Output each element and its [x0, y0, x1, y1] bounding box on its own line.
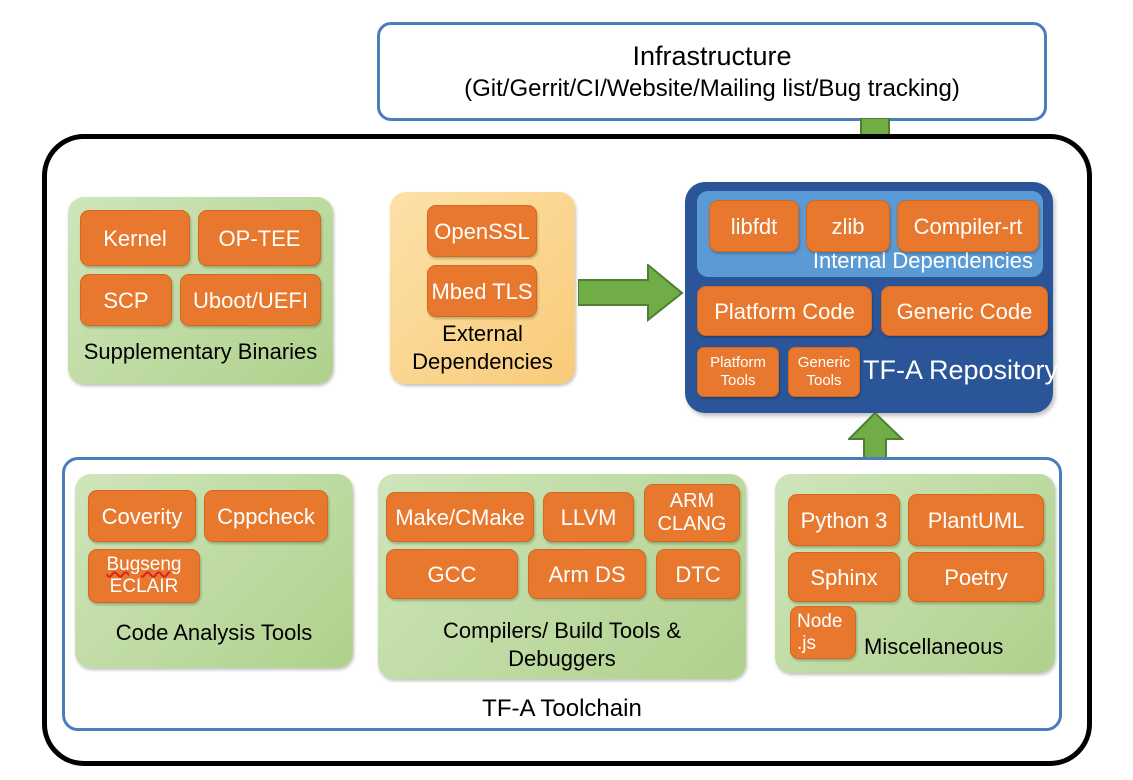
chip-zlib[interactable]: zlib — [806, 200, 890, 252]
chip-label: Arm DS — [549, 562, 626, 587]
chip-label: Kernel — [103, 226, 167, 251]
chip-label: zlib — [831, 214, 864, 239]
external-dependencies-label-line2: Dependencies — [390, 348, 575, 376]
diagram-canvas: Infrastructure (Git/Gerrit/CI/Website/Ma… — [0, 0, 1133, 780]
chip-uboot-uefi[interactable]: Uboot/UEFI — [180, 274, 321, 326]
arrow-toolchain-to-repository — [848, 413, 904, 460]
chip-label: Python 3 — [801, 508, 888, 533]
chip-label-line1: Bugseng — [106, 554, 181, 576]
compilers-build-tools-label-line2: Debuggers — [378, 645, 746, 673]
chip-label-line2: .js — [797, 633, 816, 655]
chip-label: Uboot/UEFI — [193, 288, 308, 313]
chip-label-line2: Tools — [806, 372, 841, 390]
infrastructure-title: Infrastructure — [632, 39, 791, 73]
chip-sphinx[interactable]: Sphinx — [788, 552, 900, 602]
chip-label: OpenSSL — [434, 219, 529, 244]
chip-label-line1: Node — [797, 611, 842, 633]
chip-libfdt[interactable]: libfdt — [709, 200, 799, 252]
compilers-build-tools-label-line1: Compilers/ Build Tools & — [378, 617, 746, 645]
chip-python-3[interactable]: Python 3 — [788, 494, 900, 546]
chip-llvm[interactable]: LLVM — [543, 492, 634, 542]
chip-poetry[interactable]: Poetry — [908, 552, 1044, 602]
chip-label-line2: Tools — [720, 372, 755, 390]
chip-label: Platform Code — [714, 299, 855, 324]
chip-platform-tools[interactable]: Platform Tools — [697, 347, 779, 397]
chip-generic-code[interactable]: Generic Code — [881, 286, 1048, 336]
arrow-external-deps-to-repository — [578, 264, 684, 322]
chip-label-line1: Generic — [798, 354, 851, 372]
chip-label-line2: CLANG — [658, 513, 727, 536]
chip-generic-tools[interactable]: Generic Tools — [788, 347, 860, 397]
chip-label: OP-TEE — [219, 226, 301, 251]
chip-bugseng-eclair[interactable]: Bugseng ECLAIR — [88, 549, 200, 603]
chip-dtc[interactable]: DTC — [656, 549, 740, 599]
chip-scp[interactable]: SCP — [80, 274, 172, 326]
chip-platform-code[interactable]: Platform Code — [697, 286, 872, 336]
tfa-toolchain-label: TF-A Toolchain — [62, 694, 1062, 724]
chip-label: SCP — [103, 288, 148, 313]
chip-mbed-tls[interactable]: Mbed TLS — [427, 265, 537, 317]
infrastructure-box: Infrastructure (Git/Gerrit/CI/Website/Ma… — [377, 22, 1047, 121]
code-analysis-tools-label: Code Analysis Tools — [75, 619, 353, 647]
chip-label-line1: Platform — [710, 354, 766, 372]
chip-gcc[interactable]: GCC — [386, 549, 518, 599]
chip-label-line1: ARM — [670, 490, 714, 513]
chip-label: Mbed TLS — [431, 279, 532, 304]
chip-label: Poetry — [944, 565, 1008, 590]
chip-label: libfdt — [731, 214, 777, 239]
chip-cppcheck[interactable]: Cppcheck — [204, 490, 328, 542]
chip-arm-ds[interactable]: Arm DS — [528, 549, 646, 599]
tfa-repository-title: TF-A Repository — [863, 354, 1058, 386]
chip-label: LLVM — [561, 505, 617, 530]
chip-plantuml[interactable]: PlantUML — [908, 494, 1044, 546]
chip-label: GCC — [428, 562, 477, 587]
chip-label: Compiler-rt — [914, 214, 1023, 239]
chip-make-cmake[interactable]: Make/CMake — [386, 492, 534, 542]
chip-compiler-rt[interactable]: Compiler-rt — [897, 200, 1039, 252]
chip-label: Coverity — [102, 504, 183, 529]
external-dependencies-label-line1: External — [390, 320, 575, 348]
chip-kernel[interactable]: Kernel — [80, 210, 190, 266]
chip-label-line2: ECLAIR — [110, 576, 179, 598]
chip-label: Generic Code — [897, 299, 1033, 324]
chip-label: PlantUML — [928, 508, 1025, 533]
chip-op-tee[interactable]: OP-TEE — [198, 210, 321, 266]
chip-arm-clang[interactable]: ARM CLANG — [644, 484, 740, 542]
chip-openssl[interactable]: OpenSSL — [427, 205, 537, 257]
chip-node-js[interactable]: Node .js — [790, 606, 856, 659]
chip-coverity[interactable]: Coverity — [88, 490, 196, 542]
miscellaneous-label: Miscellaneous — [864, 633, 1054, 661]
infrastructure-subtitle: (Git/Gerrit/CI/Website/Mailing list/Bug … — [464, 73, 960, 105]
supplementary-binaries-label: Supplementary Binaries — [68, 338, 333, 366]
chip-label: DTC — [675, 562, 720, 587]
chip-label: Cppcheck — [217, 504, 315, 529]
chip-label: Sphinx — [810, 565, 877, 590]
chip-label: Make/CMake — [395, 505, 525, 530]
